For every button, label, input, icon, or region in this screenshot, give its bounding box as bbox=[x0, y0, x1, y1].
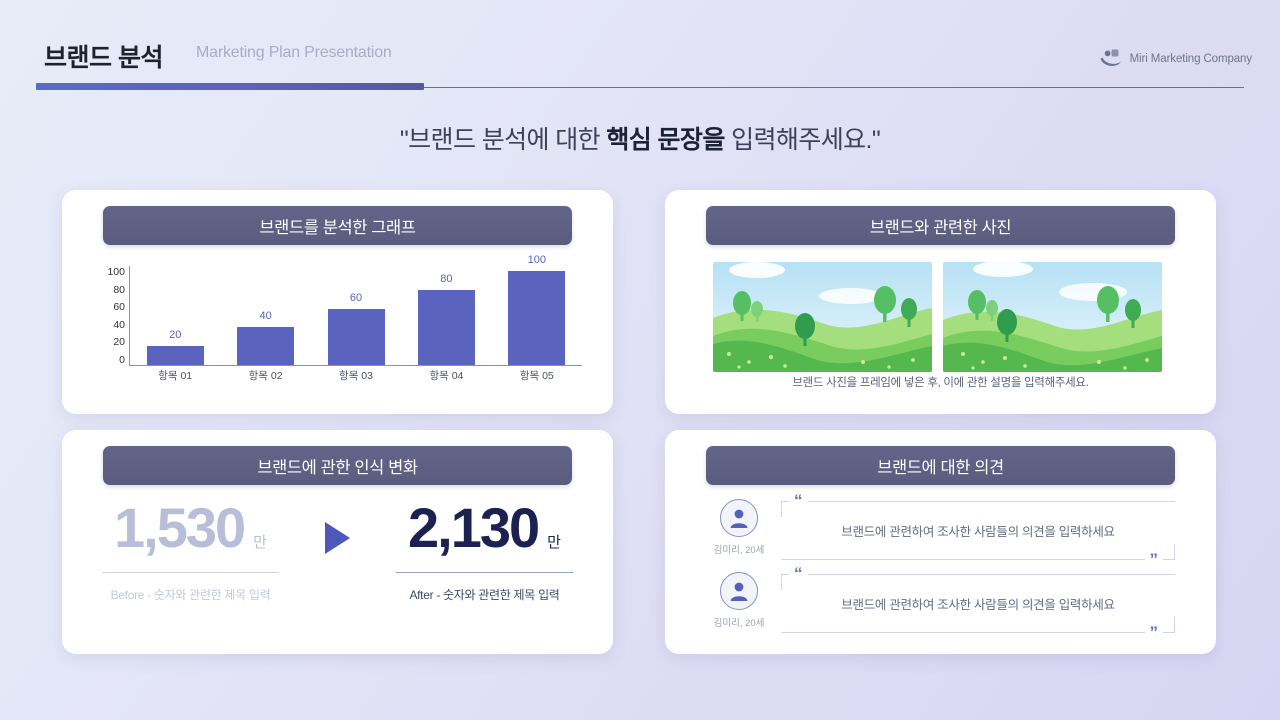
quote-person: 김미리, 20세 bbox=[709, 570, 769, 629]
page-subtitle: Marketing Plan Presentation bbox=[196, 44, 392, 62]
play-arrow-icon bbox=[325, 522, 350, 554]
x-tick: 항목 03 bbox=[311, 368, 401, 383]
metric-after-value-group: 2,130 만 bbox=[386, 500, 583, 556]
photos-caption: 브랜드 사진을 프레임에 넣은 후, 이에 관한 설명을 입력해주세요. bbox=[665, 374, 1216, 390]
y-tick: 100 bbox=[107, 268, 125, 276]
metric-arrow bbox=[289, 500, 386, 554]
quote-text: 브랜드에 관련하여 조사한 사람들의 의견을 입력하세요 bbox=[781, 497, 1175, 563]
bar-value-label: 100 bbox=[508, 254, 565, 266]
y-tick: 40 bbox=[113, 321, 125, 329]
metric-card-title: 브랜드에 관한 인식 변화 bbox=[257, 454, 417, 478]
headline: "브랜드 분석에 대한 핵심 문장을 입력해주세요." bbox=[0, 120, 1280, 156]
quote-text: 브랜드에 관련하여 조사한 사람들의 의견을 입력하세요 bbox=[781, 570, 1175, 636]
bar-value-label: 80 bbox=[418, 273, 475, 285]
quote-bubble[interactable]: “ ” 브랜드에 관련하여 조사한 사람들의 의견을 입력하세요 bbox=[781, 497, 1175, 563]
metric-after-value: 2,130 bbox=[408, 500, 538, 556]
quotes-card: 브랜드에 대한 의견 김미리, 20세 bbox=[665, 430, 1216, 654]
photos-card: 브랜드와 관련한 사진 bbox=[665, 190, 1216, 414]
quote-list: 김미리, 20세 “ ” 브랜드에 관련하여 조사한 사람들의 의견을 입력하세… bbox=[709, 497, 1175, 643]
chart-card-title: 브랜드를 분석한 그래프 bbox=[259, 214, 415, 238]
metric-after-divider bbox=[396, 572, 573, 573]
headline-prefix: "브랜드 분석에 대한 bbox=[400, 126, 607, 154]
x-tick: 항목 04 bbox=[401, 368, 491, 383]
bar-slot: 60 bbox=[311, 266, 401, 365]
quote-item: 김미리, 20세 “ ” 브랜드에 관련하여 조사한 사람들의 의견을 입력하세… bbox=[709, 497, 1175, 570]
quote-person-name: 김미리, 20세 bbox=[714, 542, 765, 556]
photo-row bbox=[713, 262, 1168, 372]
metric-after-unit: 만 bbox=[547, 531, 561, 552]
y-tick: 20 bbox=[113, 338, 125, 346]
chart-y-axis-labels: 100 80 60 40 20 0 bbox=[95, 268, 125, 364]
y-tick: 0 bbox=[119, 356, 125, 364]
metric-before-value: 1,530 bbox=[114, 500, 244, 556]
bar-value-label: 60 bbox=[328, 292, 385, 304]
x-tick: 항목 02 bbox=[220, 368, 310, 383]
brand-logo: Miri Marketing Company bbox=[1099, 48, 1252, 70]
quote-item: 김미리, 20세 “ ” 브랜드에 관련하여 조사한 사람들의 의견을 입력하세… bbox=[709, 570, 1175, 643]
quote-bubble[interactable]: “ ” 브랜드에 관련하여 조사한 사람들의 의견을 입력하세요 bbox=[781, 570, 1175, 636]
page-title: 브랜드 분석 bbox=[44, 38, 163, 74]
metric-before-divider bbox=[102, 572, 279, 573]
metric-before-caption: Before - 숫자와 관련한 제목 입력 bbox=[92, 586, 289, 603]
quote-person: 김미리, 20세 bbox=[709, 497, 769, 556]
chart-x-axis-labels: 항목 01 항목 02 항목 03 항목 04 항목 05 bbox=[130, 368, 582, 383]
metric-before-value-group: 1,530 만 bbox=[92, 500, 289, 556]
metric-card: 브랜드에 관한 인식 변화 1,530 만 Before - 숫자와 관련한 제… bbox=[62, 430, 613, 654]
person-icon bbox=[728, 580, 750, 602]
bar-slot: 20 bbox=[130, 266, 220, 365]
chart-bar: 100 bbox=[508, 271, 565, 365]
avatar bbox=[720, 499, 758, 537]
photos-card-header: 브랜드와 관련한 사진 bbox=[706, 206, 1175, 245]
bar-slot: 100 bbox=[492, 266, 582, 365]
chart-card: 브랜드를 분석한 그래프 100 80 60 40 20 0 20 40 bbox=[62, 190, 613, 414]
chart-bar: 80 bbox=[418, 290, 475, 365]
quotes-card-title: 브랜드에 대한 의견 bbox=[877, 454, 1004, 478]
avatar bbox=[720, 572, 758, 610]
chart-card-header: 브랜드를 분석한 그래프 bbox=[103, 206, 572, 245]
landscape-photo-1[interactable] bbox=[713, 262, 932, 372]
metric-after-caption: After - 숫자와 관련한 제목 입력 bbox=[386, 586, 583, 603]
y-tick: 60 bbox=[113, 303, 125, 311]
photos-card-title: 브랜드와 관련한 사진 bbox=[870, 214, 1011, 238]
page-header: 브랜드 분석 Marketing Plan Presentation Miri … bbox=[0, 0, 1280, 96]
bar-value-label: 20 bbox=[147, 329, 204, 341]
header-divider-accent bbox=[36, 83, 424, 90]
metric-before-unit: 만 bbox=[253, 531, 267, 552]
landscape-photo-2[interactable] bbox=[943, 262, 1162, 372]
chart-bar: 40 bbox=[237, 327, 294, 365]
miri-logo-icon bbox=[1099, 48, 1123, 70]
quotes-card-header: 브랜드에 대한 의견 bbox=[706, 446, 1175, 485]
headline-emphasis: 핵심 문장을 bbox=[606, 126, 724, 154]
headline-suffix: 입력해주세요." bbox=[725, 126, 880, 154]
chart-x-axis-line bbox=[129, 365, 582, 366]
metric-before: 1,530 만 Before - 숫자와 관련한 제목 입력 bbox=[92, 500, 289, 603]
x-tick: 항목 05 bbox=[492, 368, 582, 383]
brand-name-label: Miri Marketing Company bbox=[1130, 53, 1252, 65]
bar-slot: 80 bbox=[401, 266, 491, 365]
quote-person-name: 김미리, 20세 bbox=[714, 615, 765, 629]
metric-after: 2,130 만 After - 숫자와 관련한 제목 입력 bbox=[386, 500, 583, 603]
y-tick: 80 bbox=[113, 286, 125, 294]
metric-card-header: 브랜드에 관한 인식 변화 bbox=[103, 446, 572, 485]
x-tick: 항목 01 bbox=[130, 368, 220, 383]
chart-bars: 20 40 60 80 100 bbox=[130, 266, 582, 365]
bar-chart: 100 80 60 40 20 0 20 40 60 bbox=[95, 268, 582, 392]
metric-comparison: 1,530 만 Before - 숫자와 관련한 제목 입력 2,130 만 A… bbox=[92, 500, 583, 635]
bar-value-label: 40 bbox=[237, 310, 294, 322]
bar-slot: 40 bbox=[220, 266, 310, 365]
person-icon bbox=[728, 507, 750, 529]
chart-bar: 20 bbox=[147, 346, 204, 365]
chart-bar: 60 bbox=[328, 309, 385, 365]
